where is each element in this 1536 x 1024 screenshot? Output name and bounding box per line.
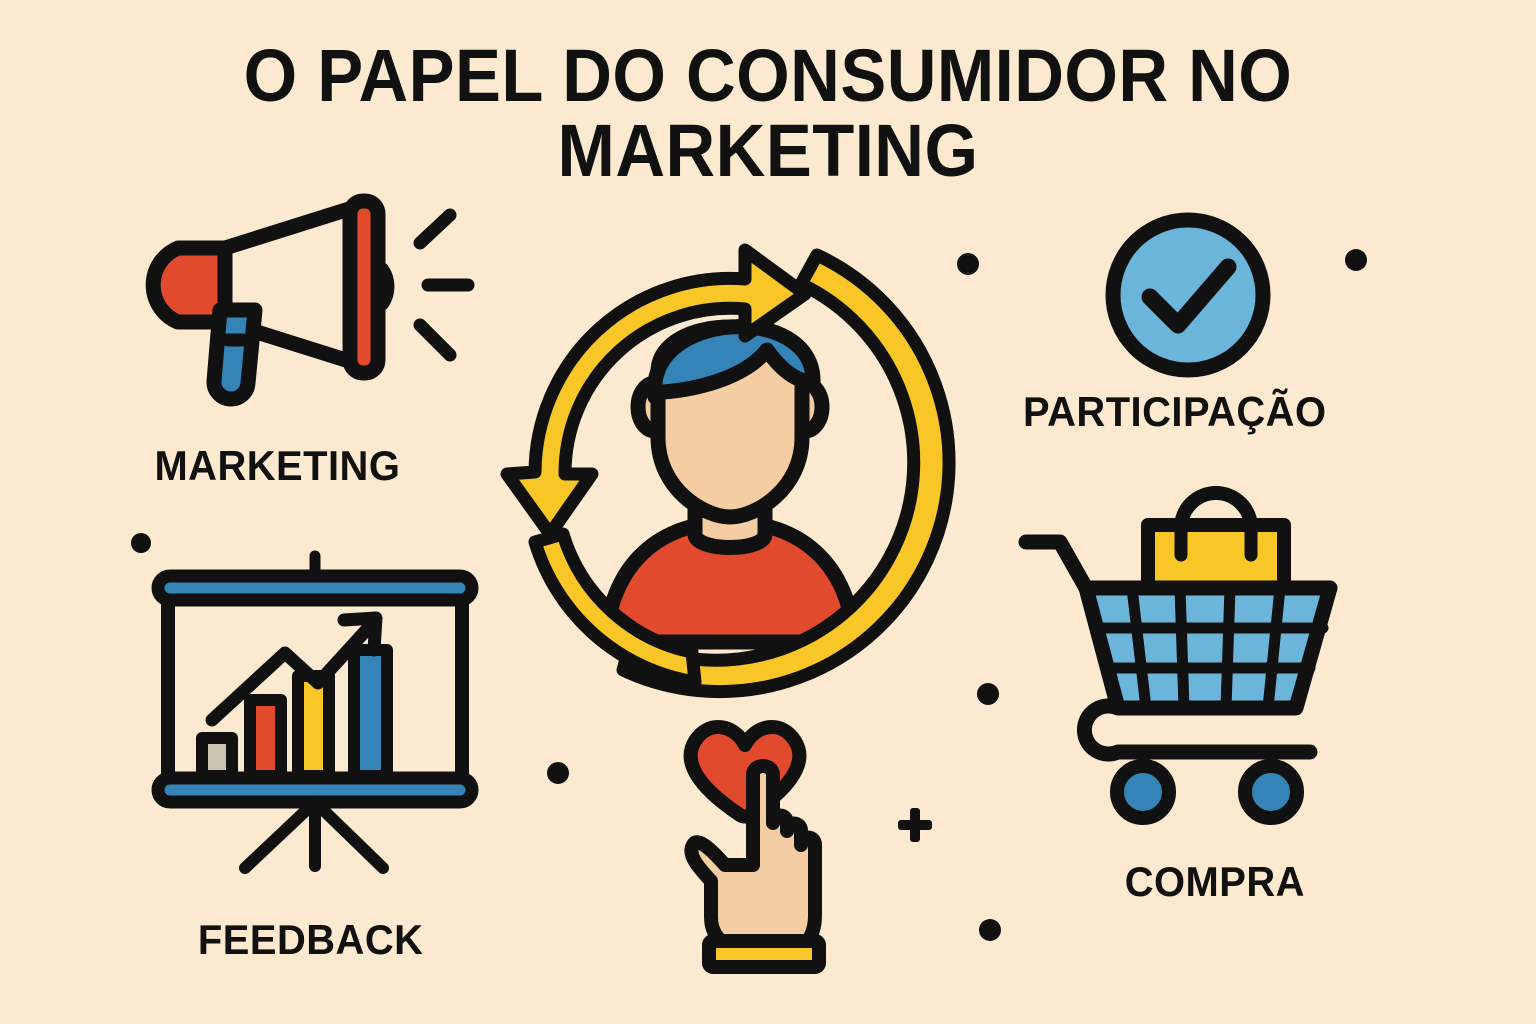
page-title: O PAPEL DO CONSUMIDOR NO MARKETING: [54, 38, 1482, 189]
decoration-dot: [547, 762, 569, 784]
decoration-dot: [979, 919, 1001, 941]
label-feedback: FEEDBACK: [198, 916, 423, 964]
shopping-cart-icon: [1018, 470, 1378, 838]
decoration-dot: [1345, 249, 1367, 271]
decoration-dot: [131, 533, 151, 553]
presentation-chart-icon: [140, 548, 490, 878]
label-marketing: MARKETING: [154, 442, 400, 490]
consumer-cycle-icon: [495, 222, 965, 692]
label-participacao: PARTICIPAÇÃO: [1023, 388, 1326, 436]
heart-hand-click-icon: [665, 705, 865, 975]
megaphone-icon: [120, 185, 480, 415]
decoration-dot: [977, 683, 999, 705]
infographic-poster: O PAPEL DO CONSUMIDOR NO MARKETING: [0, 0, 1536, 1024]
decoration-plus: [898, 808, 932, 842]
decoration-dot: [957, 253, 979, 275]
label-compra: COMPRA: [1125, 858, 1305, 906]
check-circle-icon: [1098, 205, 1278, 385]
